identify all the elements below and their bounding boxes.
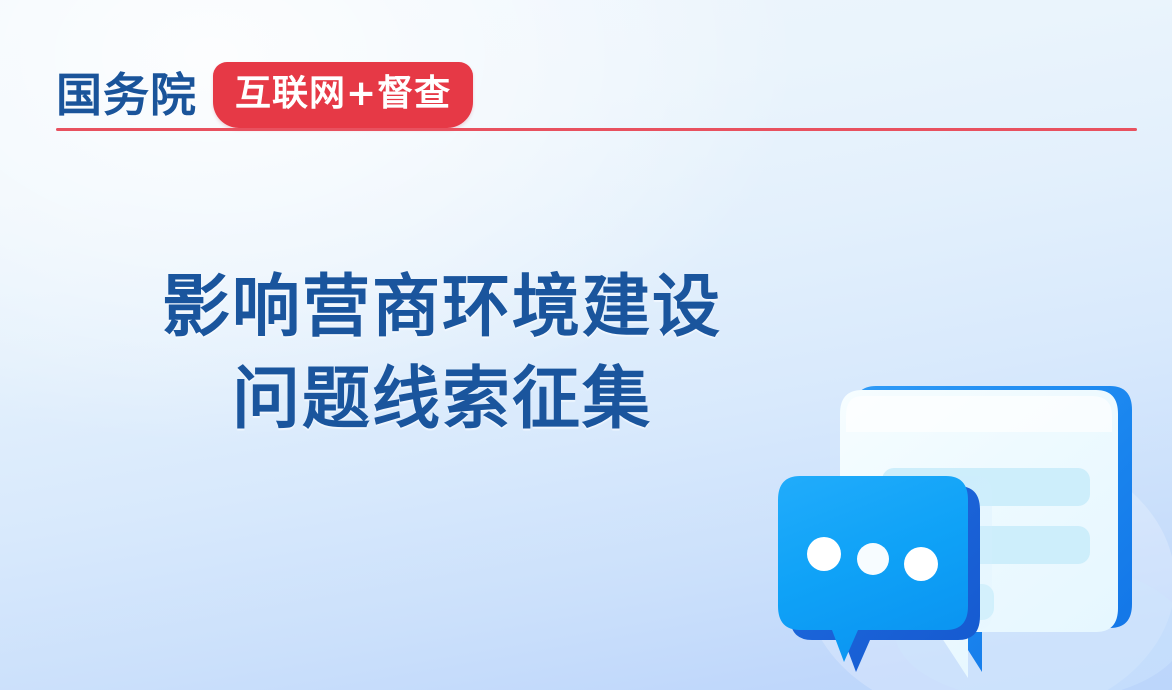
- header-divider: [56, 128, 1137, 131]
- page-title-line-1: 影响营商环境建设: [0, 262, 884, 354]
- typing-dot-3: [904, 547, 938, 581]
- internet-plus-supervision-badge: 互联网+督查: [213, 62, 473, 128]
- typing-dot-1: [807, 537, 841, 571]
- banner-root: 国务院 互联网+督查 影响营商环境建设 问题线索征集: [0, 0, 1172, 690]
- page-title-line-2: 问题线索征集: [0, 354, 884, 446]
- brand-name: 国务院: [56, 72, 197, 118]
- page-title: 影响营商环境建设 问题线索征集: [0, 262, 884, 446]
- typing-dot-2: [857, 543, 889, 575]
- brand-lockup: 国务院 互联网+督查: [56, 62, 473, 128]
- banner-header: 国务院 互联网+督查: [0, 0, 1172, 160]
